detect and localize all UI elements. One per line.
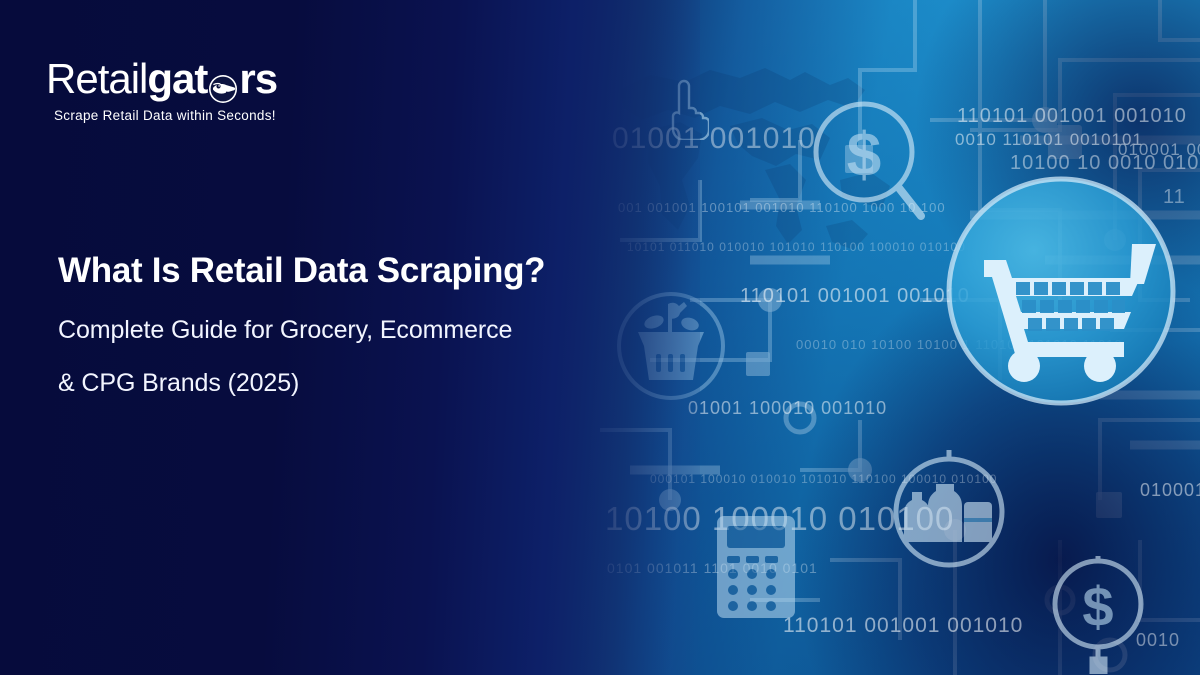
binary-text: 110101 001001 001010 — [740, 285, 970, 308]
gator-head-icon — [208, 69, 238, 99]
bottles-icon — [886, 446, 1012, 572]
logo-word-gat: gat — [147, 58, 207, 100]
headline-block: What Is Retail Data Scraping? — [58, 252, 658, 291]
shopping-cart-icon — [938, 168, 1184, 414]
svg-text:$: $ — [1082, 575, 1113, 638]
logo-word-rs: rs — [239, 58, 277, 100]
dollar-magnifier-icon: $ — [807, 98, 929, 226]
calculator-icon — [713, 512, 799, 622]
binary-text: 0010 110101 0010101 — [955, 130, 1143, 150]
binary-text: 110101 001001 001010 — [957, 105, 1187, 128]
brand-logo[interactable]: Retail gat rs Scrape Retail Data within … — [46, 58, 316, 123]
subheadline-block: Complete Guide for Grocery, Ecommerce & … — [58, 318, 678, 396]
subheadline-line-2: & CPG Brands (2025) — [58, 371, 678, 396]
logo-word-retail: Retail — [46, 58, 147, 100]
binary-text: 110101 001001 001010 — [783, 614, 1023, 638]
subheadline-line-1: Complete Guide for Grocery, Ecommerce — [58, 318, 678, 343]
binary-text: 010001 0010 — [1140, 480, 1200, 501]
dollar-coin-icon: $ — [1048, 556, 1160, 674]
hero-banner: 01001 001010 0010 110101 0010101 110101 … — [0, 0, 1200, 675]
logo-tagline: Scrape Retail Data within Seconds! — [46, 108, 316, 123]
svg-text:$: $ — [847, 121, 881, 190]
logo-wordmark: Retail gat rs — [46, 58, 316, 100]
page-title: What Is Retail Data Scraping? — [58, 252, 658, 291]
